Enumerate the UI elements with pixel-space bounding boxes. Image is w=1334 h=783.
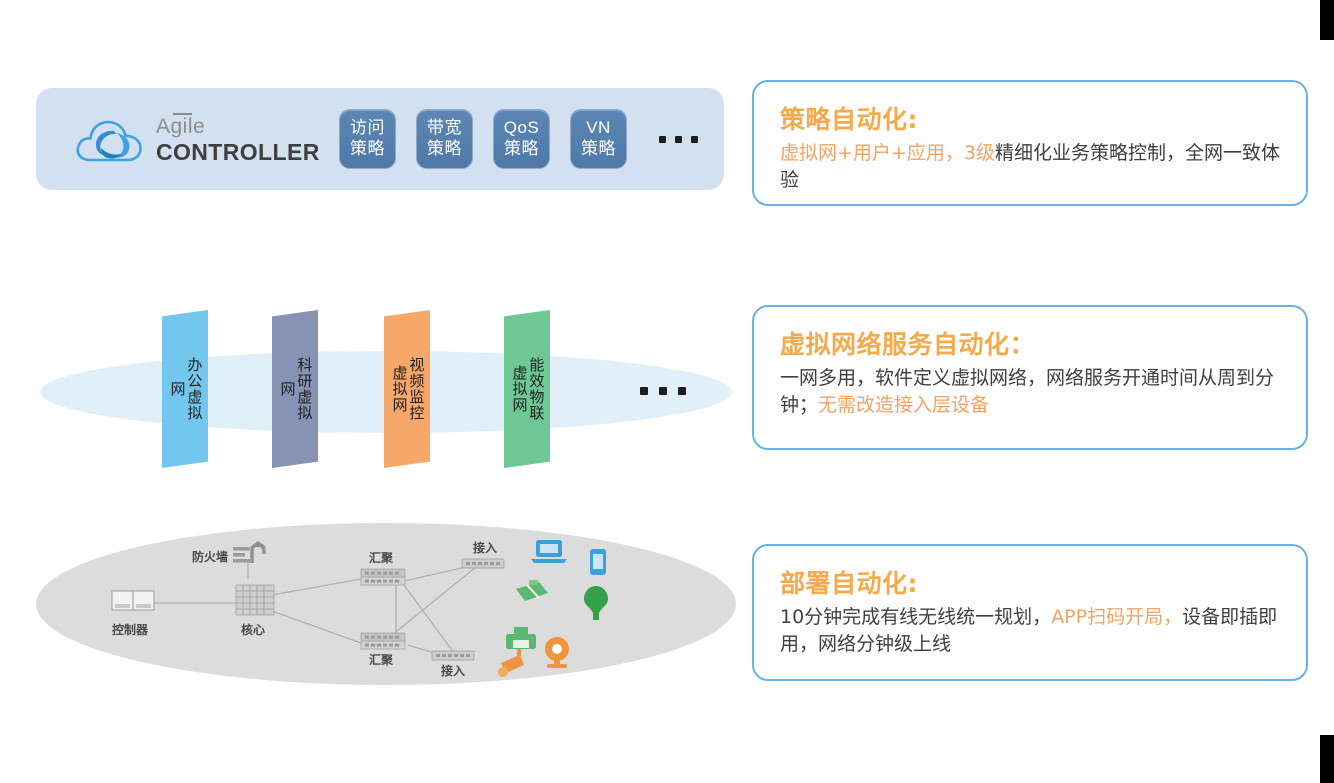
slide-canvas: Agile CONTROLLER 访问 策略 带宽 策略 QoS 策略 VN 策… [0, 0, 1334, 783]
plane-label-col-left: 虚拟网 [511, 365, 527, 413]
card-title: 策略自动化: [780, 100, 1284, 136]
aggregation-switch-upper-icon [361, 569, 405, 585]
virtual-network-diagram: 网 办公虚拟 网 科研虚拟 虚拟网 视频监控 虚拟网 能效物联 [36, 300, 736, 485]
card-body-text: 10分钟完成有线无线统一规划， [780, 606, 1051, 628]
label-aggregation-lower: 汇聚 [369, 651, 393, 668]
policy-chip-qos[interactable]: QoS 策略 [493, 109, 550, 169]
light-bulb-icon [584, 586, 608, 620]
plane-label-col-left: 网 [279, 381, 295, 397]
card-title: 虚拟网络服务自动化： [780, 325, 1284, 361]
printer-icon [506, 627, 536, 649]
vn-plane-video-surveillance[interactable]: 虚拟网 视频监控 [384, 310, 430, 468]
plane-label-col-right: 科研虚拟 [296, 357, 312, 421]
dot [659, 136, 666, 143]
policy-automation-card: 策略自动化: 虚拟网+用户+应用，3级精细化业务策略控制，全网一致体验 [752, 80, 1308, 206]
policy-chip-row: 访问 策略 带宽 策略 QoS 策略 VN 策略 [339, 109, 698, 169]
virtual-network-service-automation-card: 虚拟网络服务自动化： 一网多用，软件定义虚拟网络，网络服务开通时间从周到分钟；无… [752, 305, 1308, 450]
vn-plane-office[interactable]: 网 办公虚拟 [162, 310, 208, 468]
plane-label-col-left: 网 [169, 381, 185, 397]
card-reader-icon [516, 580, 548, 601]
vn-plane-energy-iot[interactable]: 虚拟网 能效物联 [504, 310, 550, 468]
right-edge-marker-top [1320, 0, 1334, 40]
cloud-icon [74, 110, 144, 168]
macron-accent [173, 113, 192, 115]
policy-chip-vn[interactable]: VN 策略 [570, 109, 627, 169]
brand-agile-text: Agile [156, 115, 205, 138]
aggregation-switch-lower-icon [361, 633, 405, 649]
policy-chip-line1: QoS [504, 118, 540, 139]
policy-chip-line2: 策略 [504, 139, 539, 160]
label-aggregation-upper: 汇聚 [369, 549, 393, 566]
laptop-icon [531, 540, 567, 563]
card-body: 一网多用，软件定义虚拟网络，网络服务开通时间从周到分钟；无需改造接入层设备 [780, 365, 1284, 419]
webcam-icon [545, 637, 569, 668]
policy-chip-line1: 带宽 [427, 118, 462, 139]
deployment-automation-card: 部署自动化: 10分钟完成有线无线统一规划，APP扫码开局，设备即插即用，网络分… [752, 544, 1308, 681]
plane-label-col-right: 视频监控 [408, 357, 424, 421]
vn-plane-research[interactable]: 网 科研虚拟 [272, 310, 318, 468]
card-body: 虚拟网+用户+应用，3级精细化业务策略控制，全网一致体验 [780, 140, 1284, 194]
policy-chip-line2: 策略 [350, 139, 385, 160]
controller-icon [112, 591, 154, 610]
policy-more-ellipsis-icon[interactable] [659, 136, 698, 143]
vn-more-ellipsis-icon[interactable] [640, 387, 686, 395]
card-body-highlight: 虚拟网+用户+应用，3级 [780, 142, 995, 164]
brand-controller-text: CONTROLLER [156, 141, 320, 164]
label-access-lower: 接入 [441, 662, 465, 679]
policy-chip-line1: 访问 [350, 118, 385, 139]
plane-label-col-right: 能效物联 [528, 357, 544, 421]
plane-label: 网 科研虚拟 [272, 310, 318, 468]
label-firewall: 防火墙 [192, 548, 228, 565]
label-controller: 控制器 [112, 621, 148, 638]
dot [691, 136, 698, 143]
firewall-icon [233, 541, 266, 563]
card-title: 部署自动化: [780, 564, 1284, 600]
policy-chip-bandwidth[interactable]: 带宽 策略 [416, 109, 473, 169]
smartphone-icon [590, 549, 606, 575]
brand-wordmark: Agile CONTROLLER [156, 114, 320, 164]
core-switch-icon [236, 585, 274, 615]
right-edge-marker-bottom [1320, 735, 1334, 783]
access-switch-lower-icon [432, 651, 474, 660]
dot [640, 387, 648, 395]
label-core: 核心 [241, 621, 265, 638]
plane-label-col-left: 虚拟网 [391, 365, 407, 413]
card-body-highlight: 无需改造接入层设备 [818, 394, 989, 416]
policy-chip-line2: 策略 [427, 139, 462, 160]
card-body-highlight: APP扫码开局， [1051, 606, 1182, 628]
dot [675, 136, 682, 143]
plane-label-col-right: 办公虚拟 [186, 357, 202, 421]
agile-controller-panel: Agile CONTROLLER 访问 策略 带宽 策略 QoS 策略 VN 策… [36, 88, 724, 190]
dome-camera-icon [498, 649, 524, 677]
dot [659, 387, 667, 395]
policy-chip-line2: 策略 [581, 139, 616, 160]
agile-controller-logo: Agile CONTROLLER [74, 110, 320, 168]
label-access-upper: 接入 [473, 539, 497, 556]
dot [678, 387, 686, 395]
brand-name-agile: Agile [156, 114, 320, 137]
access-switch-upper-icon [462, 559, 504, 568]
physical-network-diagram: 控制器 防火墙 核心 汇聚 汇聚 接入 接入 [36, 523, 736, 685]
plane-label: 网 办公虚拟 [162, 310, 208, 468]
policy-chip-line1: VN [586, 118, 611, 139]
policy-chip-access[interactable]: 访问 策略 [339, 109, 396, 169]
card-body: 10分钟完成有线无线统一规划，APP扫码开局，设备即插即用，网络分钟级上线 [780, 604, 1284, 658]
plane-label: 虚拟网 能效物联 [504, 310, 550, 468]
plane-label: 虚拟网 视频监控 [384, 310, 430, 468]
